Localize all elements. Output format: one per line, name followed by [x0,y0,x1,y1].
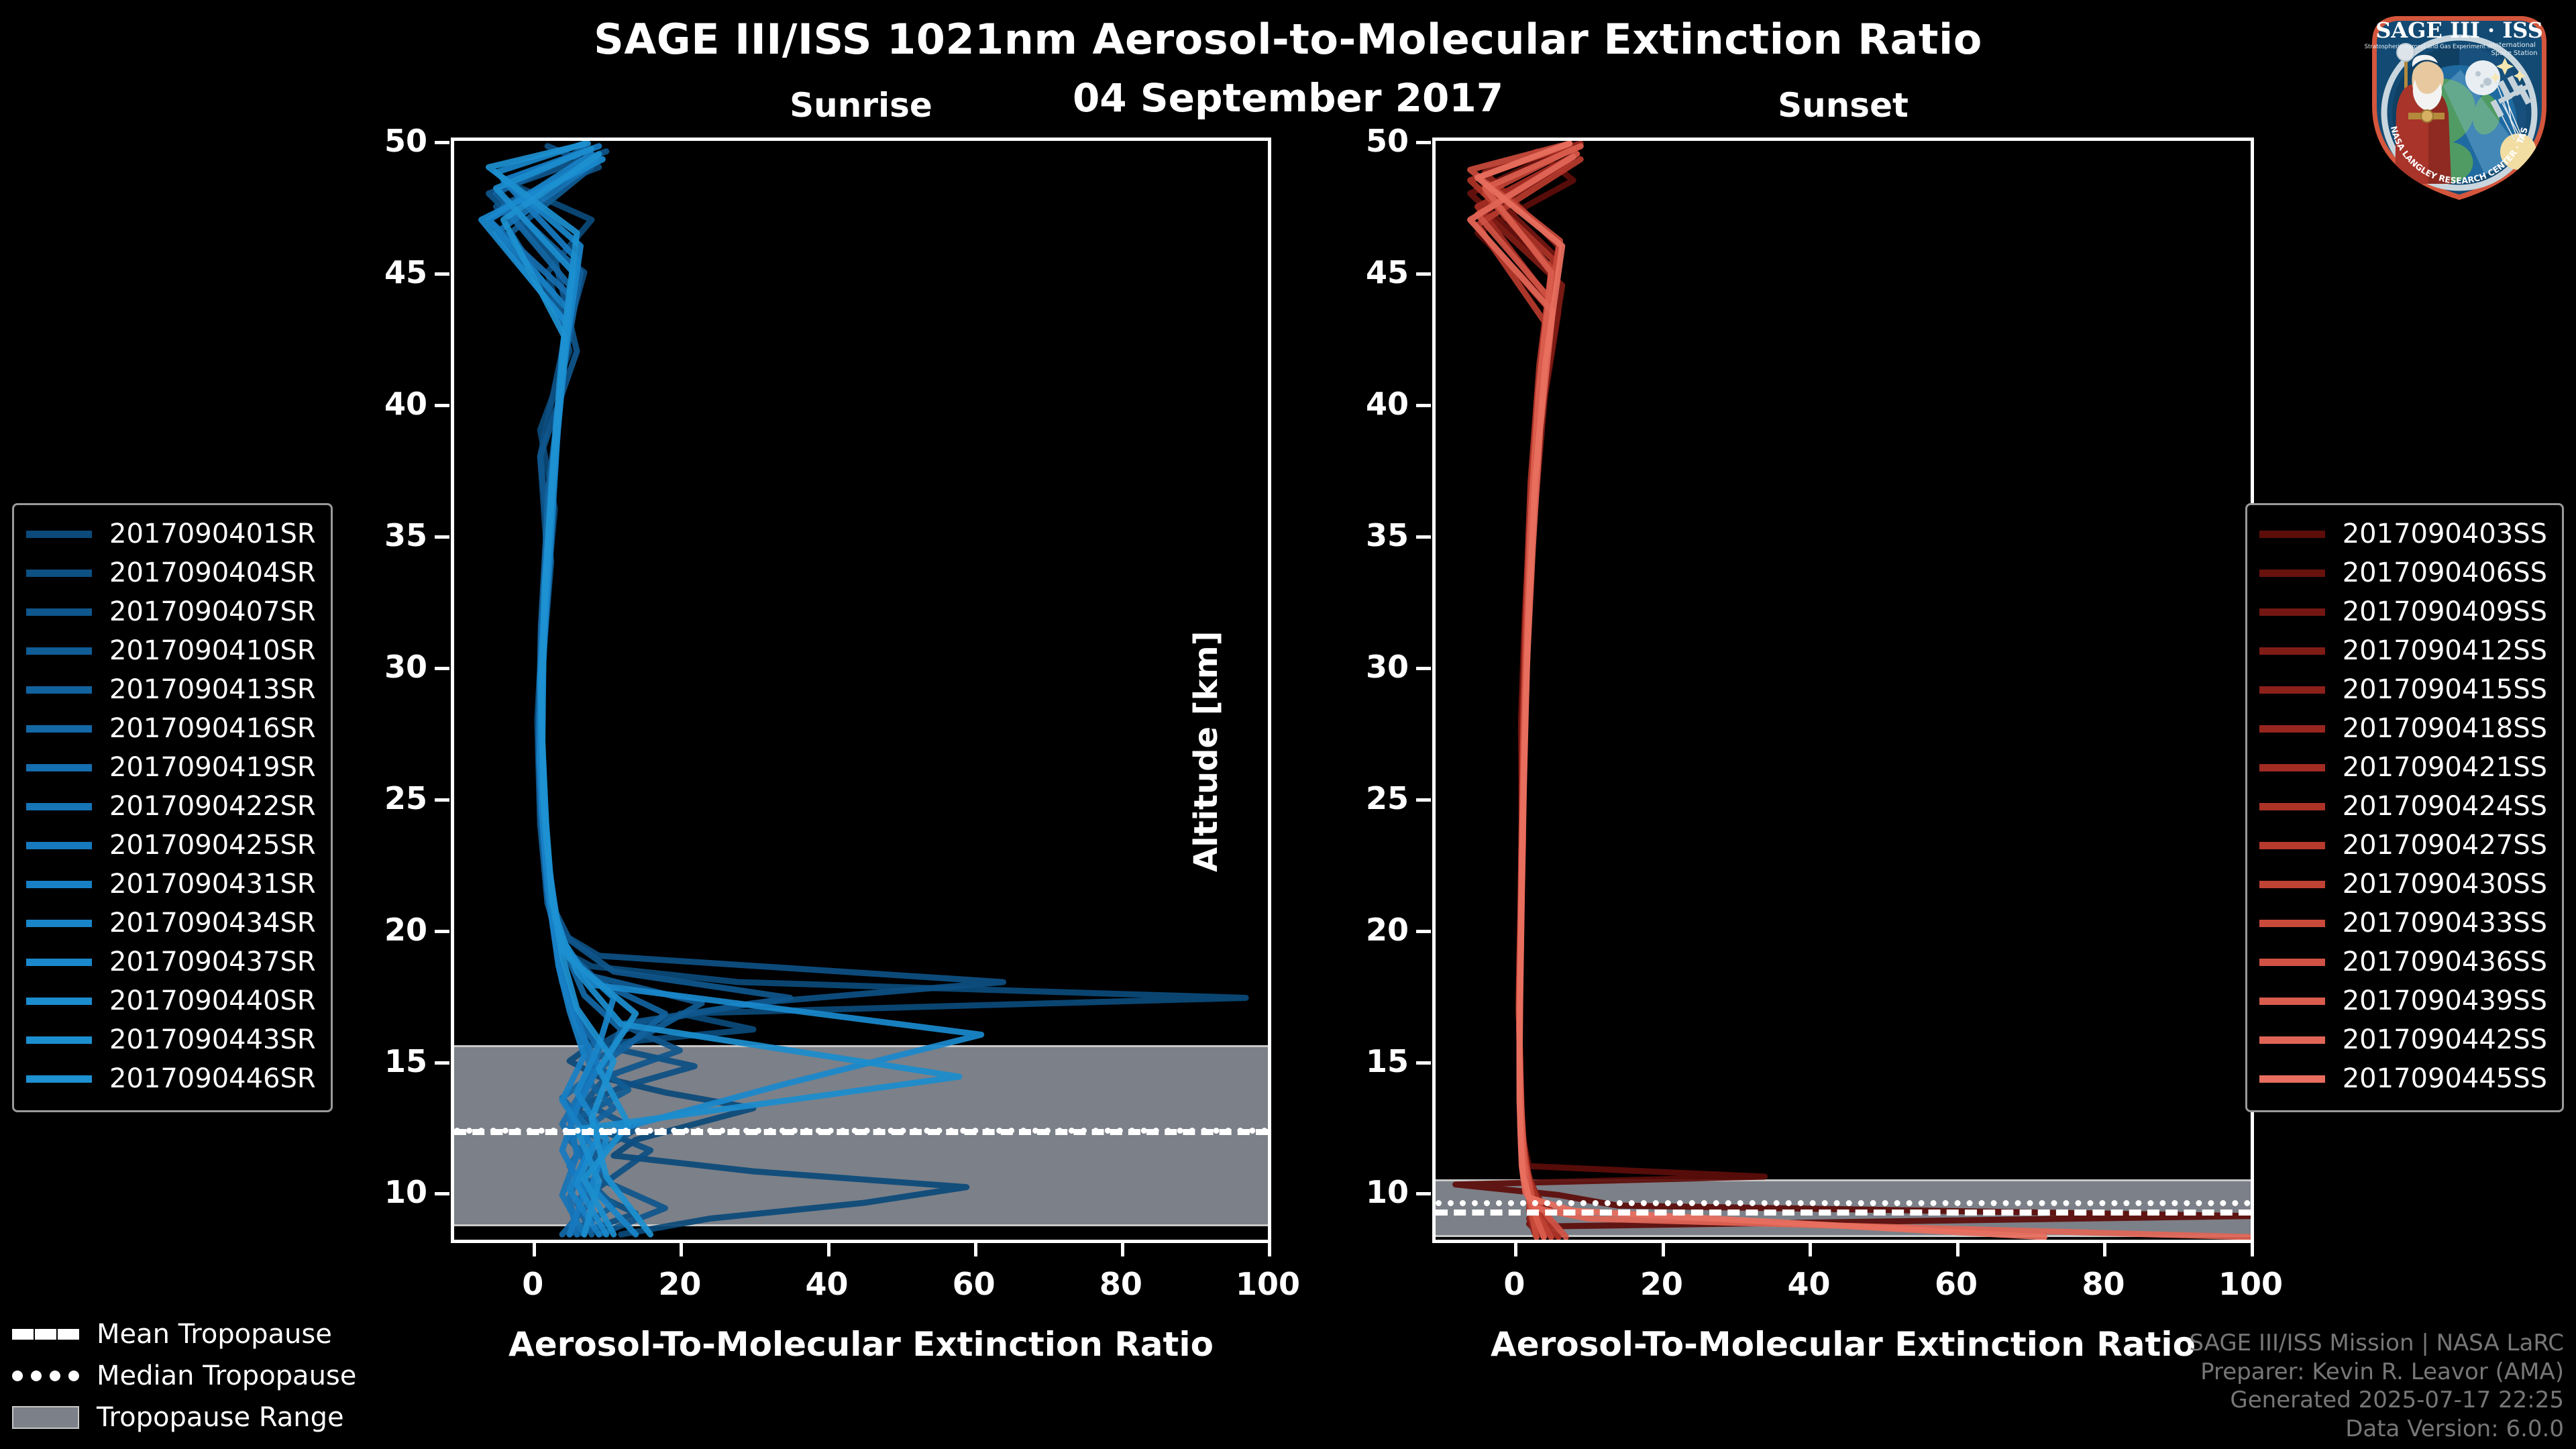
y-axis-tick-mark [435,798,449,802]
legend-item[interactable]: 2017090443SR [26,1020,316,1059]
tropopause-key-mean: Mean Tropopause [12,1313,356,1355]
figure-title: SAGE III/ISS 1021nm Aerosol-to-Molecular… [0,15,2576,64]
legend-item[interactable]: 2017090406SS [2259,553,2547,592]
credits-line-1: SAGE III/ISS Mission | NASA LaRC [2189,1329,2564,1358]
x-axis-tick-mark [827,1243,830,1256]
patch-title: SAGE III · ISS [2375,17,2543,43]
legend-item[interactable]: 2017090446SR [26,1059,316,1098]
legend-item[interactable]: 2017090404SR [26,553,316,592]
legend-item[interactable]: 2017090401SR [26,515,316,553]
y-axis-tick-mark [435,404,449,407]
legend-item-label: 2017090442SS [2343,1024,2547,1055]
legend-item-label: 2017090430SS [2343,869,2547,900]
x-axis-tick-mark [974,1243,977,1256]
legend-color-swatch [26,842,92,849]
legend-item-label: 2017090404SR [109,557,316,588]
y-axis-tick-label: 10 [327,1174,427,1210]
legend-color-swatch [26,959,92,966]
profile-line [1470,157,2251,1238]
legend-item[interactable]: 2017090425SR [26,826,316,865]
tropopause-key-mean-label: Mean Tropopause [97,1319,332,1350]
legend-color-swatch [26,725,92,733]
legend-color-swatch [26,998,92,1005]
credits-line-2: Preparer: Kevin R. Leavor (AMA) [2189,1358,2564,1387]
y-axis-tick-label: 15 [327,1043,427,1079]
patch-subtitle-right-2: Space Station [2491,50,2537,57]
y-axis-tick-mark [435,667,449,670]
filled-band-icon [12,1406,79,1429]
median-tropopause-line [454,1128,1268,1134]
legend-item-label: 2017090401SR [109,519,316,549]
y-axis-tick-label: 45 [327,254,427,290]
tropopause-key-median: Median Tropopause [12,1355,356,1397]
y-axis-tick-label: 50 [327,123,427,159]
profile-lines [454,141,1268,1240]
x-axis-tick-mark [1956,1243,1960,1256]
y-axis-tick-label: 40 [327,386,427,422]
x-axis-tick-label: 20 [658,1266,701,1302]
x-axis-tick-label: 60 [953,1266,996,1302]
legend-item-label: 2017090431SR [109,869,316,900]
legend-color-swatch [2259,920,2325,927]
legend-item-label: 2017090413SR [109,674,316,705]
legend-item-label: 2017090424SS [2343,791,2547,822]
legend-item-label: 2017090443SR [109,1024,316,1055]
profile-line [1456,152,2251,1237]
legend-color-swatch [2259,647,2325,655]
y-axis-tick-mark [1416,798,1431,802]
x-axis-tick-mark [1121,1243,1124,1256]
y-axis-tick-mark [1416,930,1431,933]
credits-block: SAGE III/ISS Mission | NASA LaRC Prepare… [2189,1329,2564,1444]
x-axis-tick-label: 100 [1236,1266,1300,1302]
legend-item-label: 2017090427SS [2343,830,2547,861]
y-axis-tick-mark [435,1192,449,1195]
legend-color-swatch [2259,608,2325,616]
y-axis-tick-mark [1416,404,1431,407]
tropopause-key: Mean Tropopause Median Tropopause Tropop… [12,1313,356,1438]
legend-color-swatch [2259,842,2325,849]
legend-item[interactable]: 2017090418SS [2259,709,2547,748]
legend-color-swatch [26,1036,92,1044]
legend-item[interactable]: 2017090403SS [2259,515,2547,553]
y-axis-tick-mark [1416,272,1431,276]
x-axis-tick-label: 0 [1503,1266,1525,1302]
legend-color-swatch [26,920,92,927]
x-axis-tick-label: 100 [2218,1266,2283,1302]
legend-item[interactable]: 2017090431SR [26,865,316,904]
sunrise-x-axis-label: Aerosol-To-Molecular Extinction Ratio [451,1325,1271,1364]
y-axis-tick-mark [435,141,449,144]
legend-item-label: 2017090412SS [2343,635,2547,666]
x-axis-tick-label: 80 [1099,1266,1142,1302]
legend-color-swatch [2259,531,2325,538]
y-axis-tick-mark [1416,1061,1431,1065]
x-axis-tick-label: 60 [1935,1266,1978,1302]
legend-item-label: 2017090418SS [2343,713,2547,744]
x-axis-tick-mark [1809,1243,1812,1256]
sunrise-legend[interactable]: 2017090401SR2017090404SR2017090407SR2017… [12,503,333,1112]
legend-item-label: 2017090446SR [109,1063,316,1094]
x-axis-tick-mark [680,1243,683,1256]
profile-line [496,149,665,1234]
legend-item[interactable]: 2017090421SS [2259,748,2547,787]
legend-item[interactable]: 2017090427SS [2259,826,2547,865]
legend-item-label: 2017090407SR [109,596,316,627]
credits-line-4: Data Version: 6.0.0 [2189,1415,2564,1444]
figure-root: SAGE III/ISS 1021nm Aerosol-to-Molecular… [0,0,2576,1449]
x-axis-tick-label: 40 [806,1266,849,1302]
mean-tropopause-line [1436,1210,2251,1216]
y-axis-tick-label: 25 [327,780,427,816]
legend-item-label: 2017090409SS [2343,596,2547,627]
legend-color-swatch [26,570,92,577]
legend-color-swatch [2259,881,2325,888]
sunset-y-axis-label: Altitude [km] [1187,631,1225,872]
y-axis-tick-label: 20 [1308,912,1409,948]
legend-item-label: 2017090445SS [2343,1063,2547,1094]
legend-item[interactable]: 2017090434SR [26,904,316,943]
dotted-line-icon [12,1364,79,1387]
legend-item[interactable]: 2017090409SS [2259,592,2547,631]
legend-color-swatch [26,608,92,616]
y-axis-tick-mark [1416,535,1431,539]
legend-color-swatch [2259,959,2325,966]
legend-item[interactable]: 2017090442SS [2259,1020,2547,1059]
x-axis-tick-mark [2103,1243,2106,1256]
x-axis-tick-mark [1514,1243,1517,1256]
y-axis-tick-label: 25 [1308,780,1409,816]
legend-color-swatch [2259,764,2325,771]
y-axis-tick-label: 30 [1308,649,1409,685]
legend-item-label: 2017090422SR [109,791,316,822]
sage-iii-iss-mission-patch-icon: SAGE III · ISS Stratospheric Aerosol and… [2359,5,2560,207]
legend-item-label: 2017090415SS [2343,674,2547,705]
y-axis-tick-label: 15 [1308,1043,1409,1079]
x-axis-tick-label: 80 [2082,1266,2125,1302]
y-axis-tick-label: 20 [327,912,427,948]
legend-item-label: 2017090440SR [109,985,316,1016]
legend-color-swatch [2259,998,2325,1005]
tropopause-key-median-label: Median Tropopause [97,1360,356,1391]
y-axis-tick-mark [435,272,449,276]
sunset-x-axis-label: Aerosol-To-Molecular Extinction Ratio [1432,1325,2254,1364]
legend-item[interactable]: 2017090410SR [26,631,316,670]
legend-color-swatch [26,1075,92,1083]
patch-subtitle-left: Stratospheric Aerosol and Gas Experiment… [2365,44,2493,50]
legend-item[interactable]: 2017090413SR [26,670,316,709]
y-axis-tick-label: 30 [327,649,427,685]
legend-item-label: 2017090406SS [2343,557,2547,588]
legend-item-label: 2017090434SR [109,908,316,938]
legend-item[interactable]: 2017090445SS [2259,1059,2547,1098]
sunset-panel-title: Sunset [1432,86,2254,125]
legend-color-swatch [26,686,92,694]
y-axis-tick-label: 10 [1308,1174,1409,1210]
y-axis-tick-mark [435,535,449,539]
legend-color-swatch [26,881,92,888]
legend-color-swatch [26,764,92,771]
legend-item[interactable]: 2017090422SR [26,787,316,826]
legend-item[interactable]: 2017090439SS [2259,981,2547,1020]
legend-item-label: 2017090425SR [109,830,316,861]
legend-color-swatch [26,531,92,538]
legend-item[interactable]: 2017090437SR [26,943,316,981]
patch-subtitle-right-1: International [2493,42,2536,49]
legend-item[interactable]: 2017090412SS [2259,631,2547,670]
tropopause-key-range-label: Tropopause Range [97,1402,344,1433]
legend-color-swatch [26,647,92,655]
legend-item[interactable]: 2017090407SR [26,592,316,631]
y-axis-tick-label: 45 [1308,254,1409,290]
profile-line [489,152,790,1234]
legend-item-label: 2017090403SS [2343,519,2547,549]
x-axis-tick-mark [1662,1243,1665,1256]
legend-color-swatch [2259,686,2325,694]
legend-color-swatch [2259,570,2325,577]
y-axis-tick-mark [1416,141,1431,144]
sunset-plot-area [1432,138,2254,1243]
dashed-line-icon [12,1323,79,1346]
legend-item[interactable]: 2017090436SS [2259,943,2547,981]
legend-item[interactable]: 2017090416SR [26,709,316,748]
x-axis-tick-label: 0 [522,1266,543,1302]
legend-item-label: 2017090439SS [2343,985,2547,1016]
legend-item-label: 2017090437SR [109,947,316,977]
median-tropopause-line [1436,1200,2251,1206]
profile-lines [1436,141,2251,1240]
legend-item-label: 2017090436SS [2343,947,2547,977]
legend-item-label: 2017090416SR [109,713,316,744]
y-axis-tick-label: 40 [1308,386,1409,422]
y-axis-tick-label: 50 [1308,123,1409,159]
legend-item[interactable]: 2017090415SS [2259,670,2547,709]
credits-line-3: Generated 2025-07-17 22:25 [2189,1386,2564,1415]
legend-item-label: 2017090433SS [2343,908,2547,938]
sunrise-panel-title: Sunrise [451,86,1271,125]
x-axis-tick-mark [2251,1243,2254,1256]
sunrise-plot-area [451,138,1271,1243]
legend-color-swatch [2259,1036,2325,1044]
x-axis-tick-label: 20 [1640,1266,1683,1302]
legend-item-label: 2017090410SR [109,635,316,666]
x-axis-tick-label: 40 [1787,1266,1830,1302]
profile-line [1478,144,2045,1237]
x-axis-tick-mark [1268,1243,1271,1256]
legend-item[interactable]: 2017090440SR [26,981,316,1020]
legend-item-label: 2017090421SS [2343,752,2547,783]
y-axis-tick-mark [1416,667,1431,670]
y-axis-tick-mark [435,1061,449,1065]
x-axis-tick-mark [533,1243,536,1256]
legend-item[interactable]: 2017090430SS [2259,865,2547,904]
legend-item[interactable]: 2017090424SS [2259,787,2547,826]
legend-item[interactable]: 2017090433SS [2259,904,2547,943]
legend-item[interactable]: 2017090419SR [26,748,316,787]
tropopause-key-range: Tropopause Range [12,1397,356,1438]
legend-color-swatch [2259,1075,2325,1083]
legend-color-swatch [26,803,92,810]
legend-item-label: 2017090419SR [109,752,316,783]
legend-color-swatch [2259,803,2325,810]
y-axis-tick-mark [1416,1192,1431,1195]
y-axis-tick-mark [435,930,449,933]
legend-color-swatch [2259,725,2325,733]
sunset-legend[interactable]: 2017090403SS2017090406SS2017090409SS2017… [2245,503,2564,1112]
y-axis-tick-label: 35 [1308,517,1409,553]
y-axis-tick-label: 35 [327,517,427,553]
